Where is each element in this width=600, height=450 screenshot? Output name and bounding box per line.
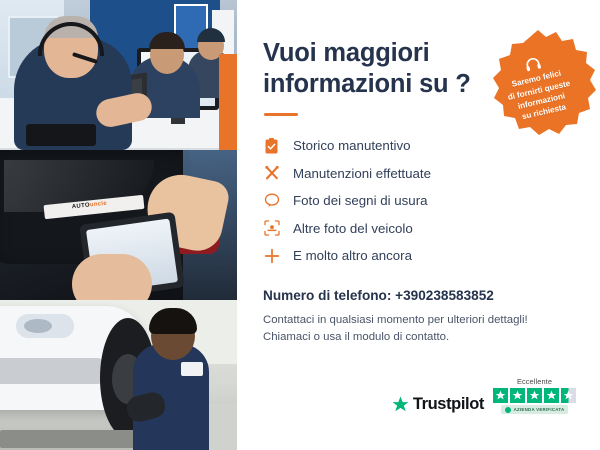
trustpilot-star-rating xyxy=(493,388,576,403)
verified-check-icon xyxy=(505,407,511,413)
feature-item-molto-altro: E molto altro ancora xyxy=(263,242,578,270)
vehicle-lift-ramp xyxy=(0,430,150,448)
trustpilot-rating: Eccellente xyxy=(493,377,576,414)
speech-bubble-icon xyxy=(263,192,280,209)
wrench-screwdriver-icon xyxy=(263,165,280,182)
feature-item-foto-segni-usura: Foto dei segni di usura xyxy=(263,187,578,215)
content-panel: Vuoi maggiori informazioni su ? Saremo f… xyxy=(237,0,600,450)
photo-frame-icon xyxy=(263,220,280,237)
mechanic-uniform-badge xyxy=(181,362,203,376)
feature-item-label: Altre foto del veicolo xyxy=(293,221,413,236)
trustpilot-brand-name: Trustpilot xyxy=(413,395,484,414)
verified-company-label: AZIENDA VERIFICATA xyxy=(514,407,565,412)
trustpilot-rating-label: Eccellente xyxy=(517,377,552,386)
star-filled xyxy=(527,388,542,403)
star-filled xyxy=(544,388,559,403)
star-filled xyxy=(510,388,525,403)
photo-mechanic-inspecting-white-car-on-lift xyxy=(0,300,237,450)
feature-item-label: E molto altro ancora xyxy=(293,248,412,263)
car-front-grille xyxy=(0,358,102,384)
trustpilot-widget[interactable]: Trustpilot Eccellente xyxy=(392,377,576,414)
feature-list: Storico manutentivo Manutenzioni effettu… xyxy=(263,132,578,270)
photo-technician-measuring-dark-car-with-tablet: AUTOuncle xyxy=(0,150,237,300)
technician-hand-lower xyxy=(72,254,152,300)
feature-item-label: Manutenzioni effettuate xyxy=(293,166,431,181)
seal-text: Saremo felici di fornirti queste informa… xyxy=(504,66,577,125)
feature-item-label: Foto dei segni di usura xyxy=(293,193,428,208)
star-half xyxy=(561,388,576,403)
photo-column: AUTOuncle xyxy=(0,0,237,450)
desk-tablet xyxy=(26,124,96,146)
feature-item-manutenzioni-effettuate: Manutenzioni effettuate xyxy=(263,160,578,188)
trustpilot-star-icon xyxy=(392,396,409,413)
contact-note: Contattaci in qualsiasi momento per ulte… xyxy=(263,312,578,346)
contact-note-line-2: Chiamaci o usa il modulo di contatto. xyxy=(263,329,578,346)
promo-seal-badge: Saremo felici di fornirti queste informa… xyxy=(480,28,596,144)
trustpilot-logo: Trustpilot xyxy=(392,395,484,414)
star-filled xyxy=(493,388,508,403)
photo-call-centre-agents-with-headsets xyxy=(0,0,237,150)
car-headlight xyxy=(16,314,74,338)
phone-line: Numero di telefono: +390238583852 xyxy=(263,288,578,303)
feature-item-altre-foto-veicolo: Altre foto del veicolo xyxy=(263,215,578,243)
phone-number[interactable]: +390238583852 xyxy=(395,288,494,303)
phone-label: Numero di telefono: xyxy=(263,288,391,303)
clipboard-check-icon xyxy=(263,137,280,154)
feature-item-label: Storico manutentivo xyxy=(293,138,411,153)
advertisement-banner: AUTOuncle Vuoi maggiori informazioni su … xyxy=(0,0,600,450)
verified-company-badge: AZIENDA VERIFICATA xyxy=(501,405,569,414)
title-divider xyxy=(264,113,298,116)
plus-icon xyxy=(263,247,280,264)
orange-wall-panel xyxy=(219,54,237,150)
contact-note-line-1: Contattaci in qualsiasi momento per ulte… xyxy=(263,312,578,329)
headset-icon xyxy=(524,56,543,73)
